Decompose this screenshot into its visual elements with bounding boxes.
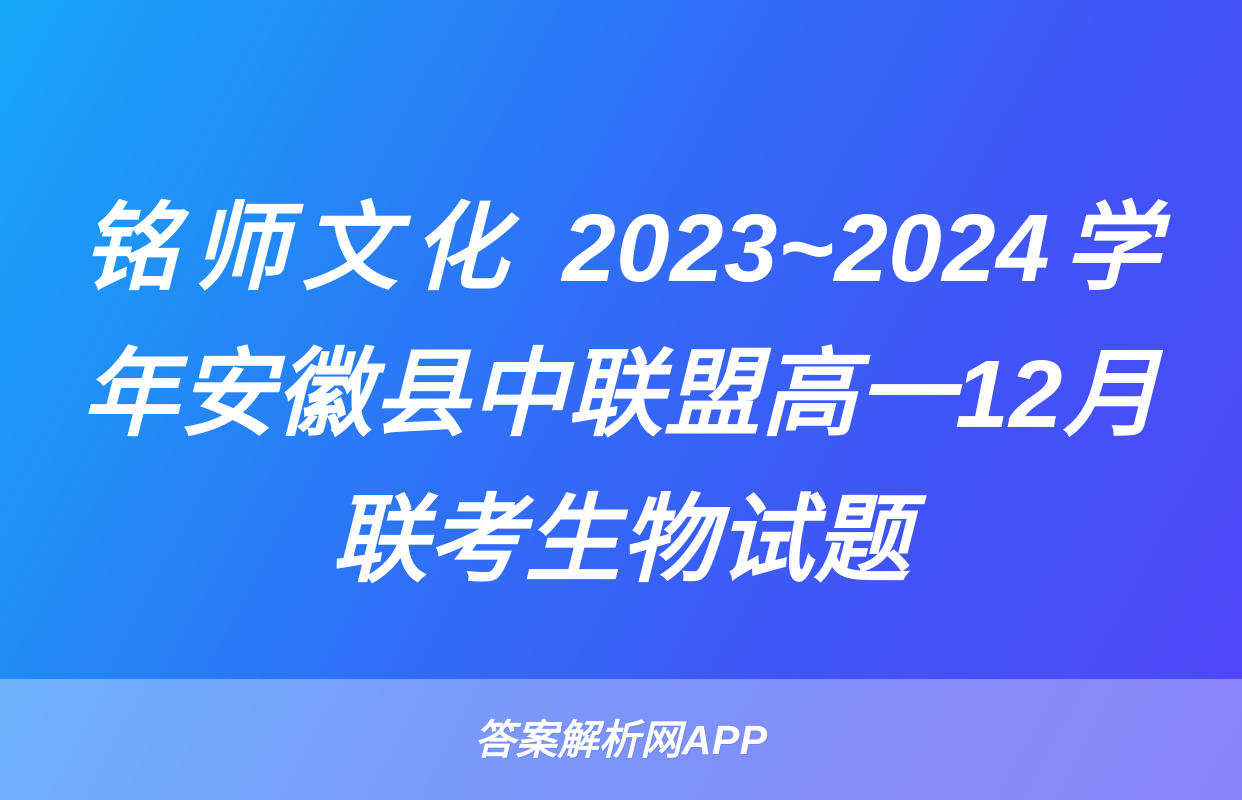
title-line-3: 联考生物试题 — [36, 468, 1206, 614]
poster-canvas: 铭师文化 2023~2024学 年安徽县中联盟高一12月 联考生物试题 答案解析… — [0, 0, 1242, 800]
title-line-2: 年安徽县中联盟高一12月 — [36, 322, 1206, 468]
title-line-1: 铭师文化 2023~2024学 — [36, 176, 1206, 322]
footer-watermark-band: 答案解析网APP — [0, 679, 1242, 800]
page-title: 铭师文化 2023~2024学 年安徽县中联盟高一12月 联考生物试题 — [0, 176, 1242, 614]
app-watermark-label: 答案解析网APP — [474, 720, 767, 761]
